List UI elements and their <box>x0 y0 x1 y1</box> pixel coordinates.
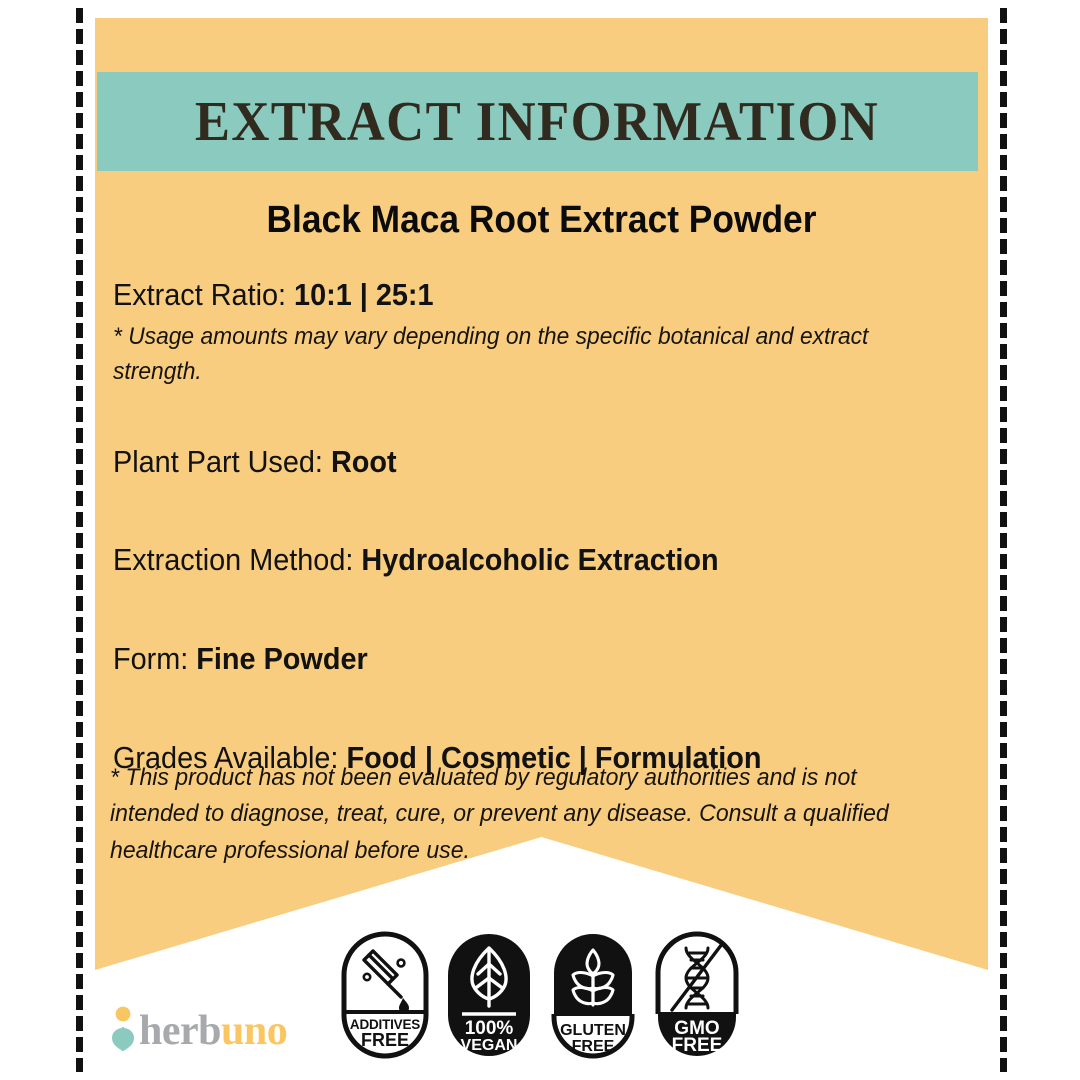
spec-value-form: Fine Powder <box>196 641 367 676</box>
badge-label-line2: FREE <box>672 1035 723 1056</box>
spec-row-plant-part-used: Plant Part Used: Root <box>113 445 913 480</box>
spec-row-form: Form: Fine Powder <box>113 642 913 677</box>
badge-label-line2: FREE <box>572 1038 615 1055</box>
spec-row-extract-ratio: Extract Ratio: 10:1 | 25:1 <box>113 278 913 313</box>
spec-label-form: Form: <box>113 641 188 676</box>
product-name: Black Maca Root Extract Powder <box>126 200 956 242</box>
spec-value-plant-part-used: Root <box>331 444 397 479</box>
spec-label-extract-ratio: Extract Ratio: <box>113 277 286 312</box>
logo-text-herb: herb <box>139 1012 221 1052</box>
badge-100-vegan: 100% VEGAN <box>444 930 534 1060</box>
title-band: EXTRACT INFORMATION <box>97 72 978 171</box>
badge-gmo-free: GMO FREE <box>652 930 742 1060</box>
spec-list: Extract Ratio: 10:1 | 25:1 * Usage amoun… <box>113 278 973 776</box>
badge-additives-free: ADDITIVES FREE <box>340 930 430 1060</box>
usage-note: * Usage amounts may vary depending on th… <box>113 319 930 390</box>
brand-logo: herb uno <box>108 1000 287 1052</box>
spec-label-plant-part-used: Plant Part Used: <box>113 444 323 479</box>
dashed-cut-line-right <box>1000 8 1007 1072</box>
spec-value-extract-ratio: 10:1 | 25:1 <box>294 277 434 312</box>
dashed-cut-line-left <box>76 8 83 1072</box>
logo-text-uno: uno <box>221 1012 287 1052</box>
spec-value-extraction-method: Hydroalcoholic Extraction <box>361 542 718 577</box>
badge-label-line1: GLUTEN <box>560 1022 626 1039</box>
certification-badges: ADDITIVES FREE 100% VEGAN <box>340 930 742 1060</box>
badge-label-line2: VEGAN <box>461 1037 518 1054</box>
page-title: EXTRACT INFORMATION <box>195 94 879 150</box>
badge-gluten-free: GLUTEN FREE <box>548 930 638 1060</box>
spec-row-extraction-method: Extraction Method: Hydroalcoholic Extrac… <box>113 543 913 578</box>
badge-label-line1: 100% <box>465 1018 514 1039</box>
badge-label-line2: FREE <box>361 1030 409 1050</box>
sprout-icon <box>108 1006 138 1052</box>
extract-information-card: EXTRACT INFORMATION Black Maca Root Extr… <box>0 0 1080 1080</box>
disclaimer-note: * This product has not been evaluated by… <box>110 760 945 869</box>
spec-label-extraction-method: Extraction Method: <box>113 542 353 577</box>
